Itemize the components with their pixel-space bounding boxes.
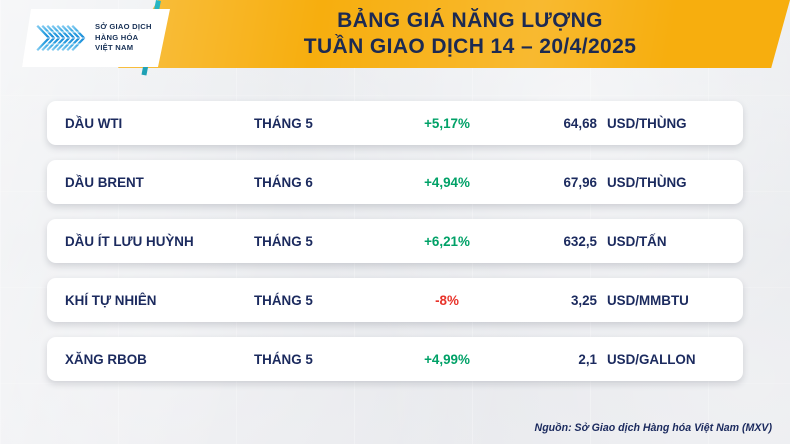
price-unit: USD/THÙNG (607, 175, 687, 190)
commodity-name: DẦU WTI (65, 116, 122, 131)
commodity-name: XĂNG RBOB (65, 352, 147, 367)
energy-price-table: DẦU WTITHÁNG 5+5,17%64,68USD/THÙNGDẦU BR… (0, 101, 790, 396)
price-value: 632,5 (467, 234, 597, 249)
logo-card: SỞ GIAO DỊCH HÀNG HÓA VIỆT NAM (22, 9, 170, 67)
page-header: SỞ GIAO DỊCH HÀNG HÓA VIỆT NAM BẢNG GIÁ … (0, 0, 790, 72)
source-note: Nguồn: Sở Giao dịch Hàng hóa Việt Nam (M… (535, 422, 772, 434)
logo-text-line1: SỞ GIAO DỊCH (95, 22, 152, 33)
commodity-name: DẦU ÍT LƯU HUỲNH (65, 234, 194, 249)
table-row: KHÍ TỰ NHIÊNTHÁNG 5-8%3,25USD/MMBTU (47, 278, 743, 322)
price-unit: USD/THÙNG (607, 116, 687, 131)
page-title-line2: TUẦN GIAO DỊCH 14 – 20/4/2025 (304, 34, 637, 60)
contract-month: THÁNG 5 (254, 234, 313, 249)
price-unit: USD/MMBTU (607, 293, 689, 308)
logo-text-line2: HÀNG HÓA (95, 33, 152, 44)
price-value: 64,68 (467, 116, 597, 131)
contract-month: THÁNG 5 (254, 293, 313, 308)
contract-month: THÁNG 5 (254, 116, 313, 131)
price-value: 3,25 (467, 293, 597, 308)
contract-month: THÁNG 6 (254, 175, 313, 190)
price-unit: USD/TẤN (607, 234, 667, 249)
table-row: DẦU ÍT LƯU HUỲNHTHÁNG 5+6,21%632,5USD/TẤ… (47, 219, 743, 263)
contract-month: THÁNG 5 (254, 352, 313, 367)
page-title-line1: BẢNG GIÁ NĂNG LƯỢNG (337, 8, 603, 34)
price-unit: USD/GALLON (607, 352, 696, 367)
price-value: 67,96 (467, 175, 597, 190)
price-value: 2,1 (467, 352, 597, 367)
commodity-name: DẦU BRENT (65, 175, 144, 190)
mxv-chevron-maze-logo-icon (36, 23, 88, 53)
logo-text-line3: VIỆT NAM (95, 43, 152, 54)
logo-text: SỞ GIAO DỊCH HÀNG HÓA VIỆT NAM (95, 22, 152, 54)
table-row: XĂNG RBOBTHÁNG 5+4,99%2,1USD/GALLON (47, 337, 743, 381)
page-title: BẢNG GIÁ NĂNG LƯỢNG TUẦN GIAO DỊCH 14 – … (170, 0, 770, 68)
table-row: DẦU WTITHÁNG 5+5,17%64,68USD/THÙNG (47, 101, 743, 145)
table-row: DẦU BRENTTHÁNG 6+4,94%67,96USD/THÙNG (47, 160, 743, 204)
commodity-name: KHÍ TỰ NHIÊN (65, 293, 156, 308)
